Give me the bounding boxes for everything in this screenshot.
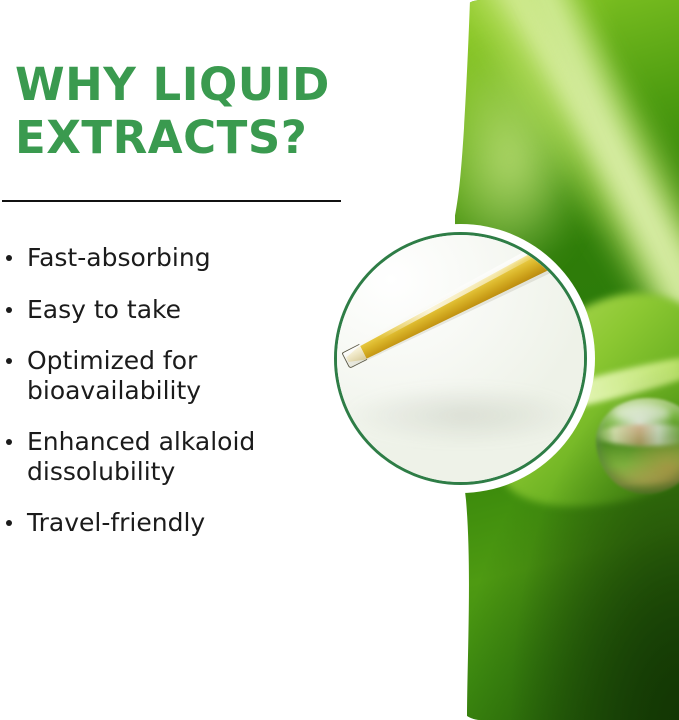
bullet-dot-icon	[6, 520, 12, 526]
page-title: Why Liquid Extracts?	[15, 58, 415, 164]
list-item: Travel-friendly	[4, 508, 404, 538]
inset-soft-shadow	[343, 385, 583, 445]
bullet-dot-icon	[6, 439, 12, 445]
infographic-root: Why Liquid Extracts? Fast-absorbing Easy…	[0, 0, 679, 720]
title-divider	[2, 200, 341, 202]
bullet-dot-icon	[6, 255, 12, 261]
bullet-dot-icon	[6, 307, 12, 313]
benefit-label: Travel-friendly	[27, 508, 404, 538]
dropper-circle-inset	[334, 232, 587, 485]
bullet-dot-icon	[6, 358, 12, 364]
